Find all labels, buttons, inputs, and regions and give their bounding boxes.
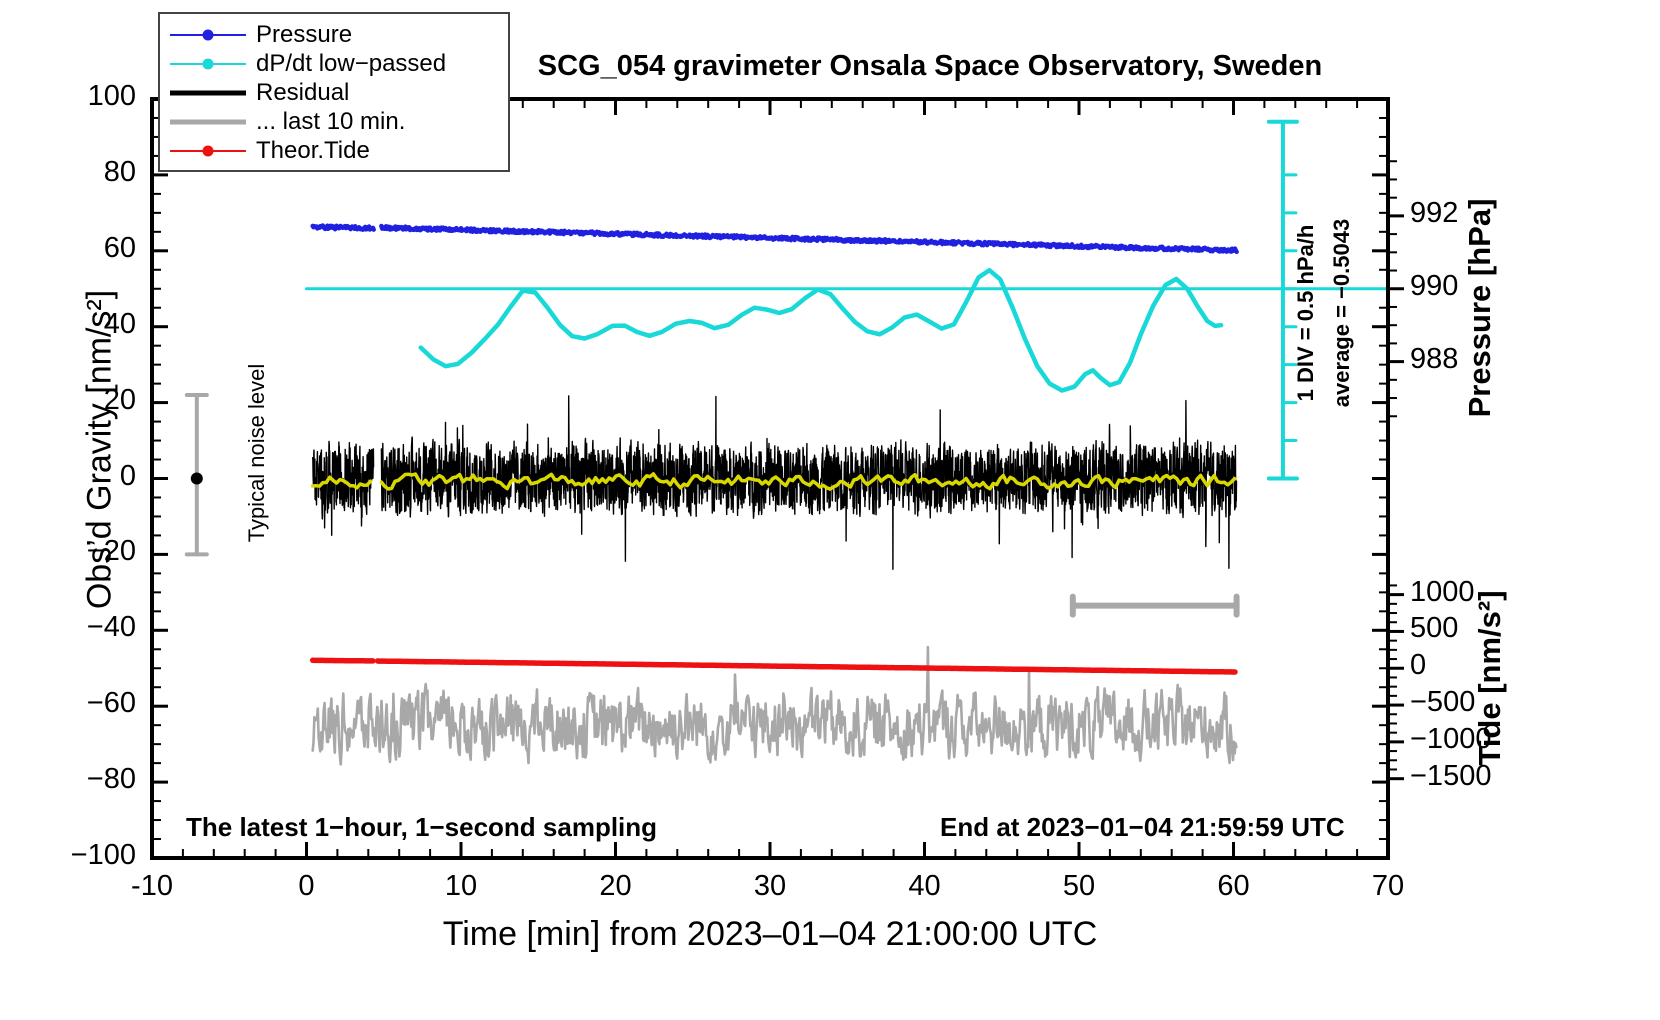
- chart-legend: PressuredP/dt low−passedResidual... last…: [158, 12, 510, 172]
- annotation-sampling: The latest 1−hour, 1−second sampling: [186, 812, 657, 843]
- annotation-average: average = −0.5043: [1329, 193, 1355, 433]
- legend-label: dP/dt low−passed: [256, 50, 446, 78]
- legend-swatch-icon: [170, 54, 246, 74]
- legend-swatch-icon: [170, 83, 246, 103]
- annotation-end-time: End at 2023−01−04 21:59:59 UTC: [940, 812, 1345, 843]
- plot-frame: [150, 97, 1390, 860]
- legend-item: ... last 10 min.: [170, 107, 498, 136]
- legend-label: Pressure: [256, 21, 352, 49]
- legend-swatch-icon: [170, 141, 246, 161]
- legend-item: Pressure: [170, 20, 498, 49]
- annotation-typical-noise-level: Typical noise level: [244, 333, 270, 573]
- legend-item: Theor.Tide: [170, 136, 498, 165]
- legend-label: Residual: [256, 79, 349, 107]
- legend-swatch-icon: [170, 112, 246, 132]
- legend-swatch-icon: [170, 25, 246, 45]
- annotation-div-scale: 1 DIV = 0.5 hPa/h: [1293, 193, 1319, 433]
- legend-label: ... last 10 min.: [256, 108, 405, 136]
- legend-label: Theor.Tide: [256, 137, 370, 165]
- legend-item: Residual: [170, 78, 498, 107]
- legend-item: dP/dt low−passed: [170, 49, 498, 78]
